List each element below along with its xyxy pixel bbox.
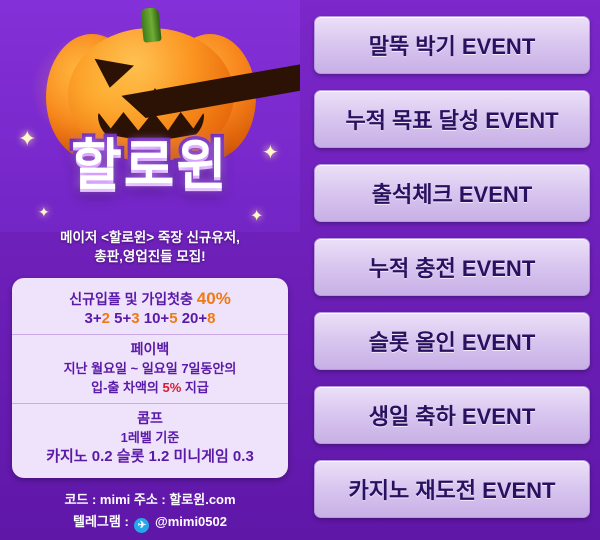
brand-title-text: 할로윈 xyxy=(71,120,229,200)
pumpkin-stem-icon xyxy=(140,7,161,43)
signup-bonus-title-text: 신규입플 및 가입첫충 xyxy=(69,291,197,307)
bonus-block-payback: 페이백 지난 월요일 ~ 일요일 7일동안의 입-출 차액의 5% 지급 xyxy=(12,334,288,403)
recruit-subtitle-line2: 총판,영업진들 모집! xyxy=(0,247,300,266)
payback-line2-post: 지급 xyxy=(181,380,209,395)
event-button-birthday[interactable]: 생일 축하 EVENT xyxy=(314,386,590,444)
payback-title: 페이백 xyxy=(18,340,282,359)
events-panel: 말뚝 박기 EVENT 누적 목표 달성 EVENT 출석체크 EVENT 누적… xyxy=(300,0,600,540)
event-button-label: 말뚝 박기 EVENT xyxy=(369,29,536,61)
comp-line2: 카지노 0.2 슬롯 1.2 미니게임 0.3 xyxy=(18,447,282,466)
brand-title: 할로윈 xyxy=(0,120,300,200)
promo-banner: ✦ ✦ ✦ ✦ 할로윈 메이저 <할로윈> 죽장 신규유저, 총판,영업진들 모… xyxy=(0,0,600,540)
event-button-stake[interactable]: 말뚝 박기 EVENT xyxy=(314,16,590,74)
left-panel: ✦ ✦ ✦ ✦ 할로윈 메이저 <할로윈> 죽장 신규유저, 총판,영업진들 모… xyxy=(0,0,300,540)
event-button-cumulative-goal[interactable]: 누적 목표 달성 EVENT xyxy=(314,90,590,148)
sparkle-icon: ✦ xyxy=(262,140,279,165)
tier-2-base: 5+ xyxy=(114,310,131,327)
payback-line2-pre: 입-출 차액의 xyxy=(91,380,162,395)
event-button-label: 생일 축하 EVENT xyxy=(369,399,536,431)
tier-1-base: 3+ xyxy=(84,310,101,327)
payback-percent: 5% xyxy=(163,380,182,395)
event-button-label: 누적 목표 달성 EVENT xyxy=(345,103,558,135)
telegram-handle: @mimi0502 xyxy=(155,514,227,529)
comp-title: 콤프 xyxy=(18,409,282,428)
signup-bonus-tiers: 3+2 5+3 10+5 20+8 xyxy=(18,309,282,328)
contact-footer: 코드 : mimi 주소 : 할로윈.com 텔레그램 : ✈ @mimi050… xyxy=(0,489,300,533)
telegram-icon: ✈ xyxy=(134,518,149,533)
event-button-cumulative-charge[interactable]: 누적 충전 EVENT xyxy=(314,238,590,296)
recruit-subtitle: 메이저 <할로윈> 죽장 신규유저, 총판,영업진들 모집! xyxy=(0,228,300,266)
payback-line2: 입-출 차액의 5% 지급 xyxy=(18,378,282,397)
event-button-label: 출석체크 EVENT xyxy=(372,177,532,209)
bonus-block-comp: 콤프 1레벨 기준 카지노 0.2 슬롯 1.2 미니게임 0.3 xyxy=(12,403,288,472)
pumpkin-nose-icon xyxy=(144,88,166,106)
tier-4-base: 20+ xyxy=(182,310,207,327)
signup-bonus-percent: 40% xyxy=(197,289,231,308)
tier-3-bonus: 5 xyxy=(169,310,177,327)
payback-line1: 지난 월요일 ~ 일요일 7일동안의 xyxy=(18,359,282,378)
bonus-block-signup: 신규입플 및 가입첫충 40% 3+2 5+3 10+5 20+8 xyxy=(12,284,288,334)
event-button-casino-retry[interactable]: 카지노 재도전 EVENT xyxy=(314,460,590,518)
recruit-subtitle-line1: 메이저 <할로윈> 죽장 신규유저, xyxy=(0,228,300,247)
event-button-label: 슬롯 올인 EVENT xyxy=(369,325,536,357)
event-button-label: 누적 충전 EVENT xyxy=(369,251,536,283)
sparkle-icon: ✦ xyxy=(18,126,36,152)
contact-telegram-line: 텔레그램 : ✈ @mimi0502 xyxy=(0,511,300,533)
tier-4-bonus: 8 xyxy=(207,310,215,327)
event-button-slot-allin[interactable]: 슬롯 올인 EVENT xyxy=(314,312,590,370)
sparkle-icon: ✦ xyxy=(250,206,263,226)
bonus-info-card: 신규입플 및 가입첫충 40% 3+2 5+3 10+5 20+8 페이백 지난… xyxy=(12,278,288,478)
event-button-attendance[interactable]: 출석체크 EVENT xyxy=(314,164,590,222)
comp-line1: 1레벨 기준 xyxy=(18,428,282,447)
contact-code-line: 코드 : mimi 주소 : 할로윈.com xyxy=(0,489,300,511)
telegram-label: 텔레그램 : xyxy=(73,514,129,529)
tier-2-bonus: 3 xyxy=(131,310,139,327)
tier-1-bonus: 2 xyxy=(102,310,110,327)
signup-bonus-title: 신규입플 및 가입첫충 40% xyxy=(18,289,282,309)
tier-3-base: 10+ xyxy=(144,310,169,327)
event-button-label: 카지노 재도전 EVENT xyxy=(348,473,555,505)
sparkle-icon: ✦ xyxy=(38,204,50,221)
